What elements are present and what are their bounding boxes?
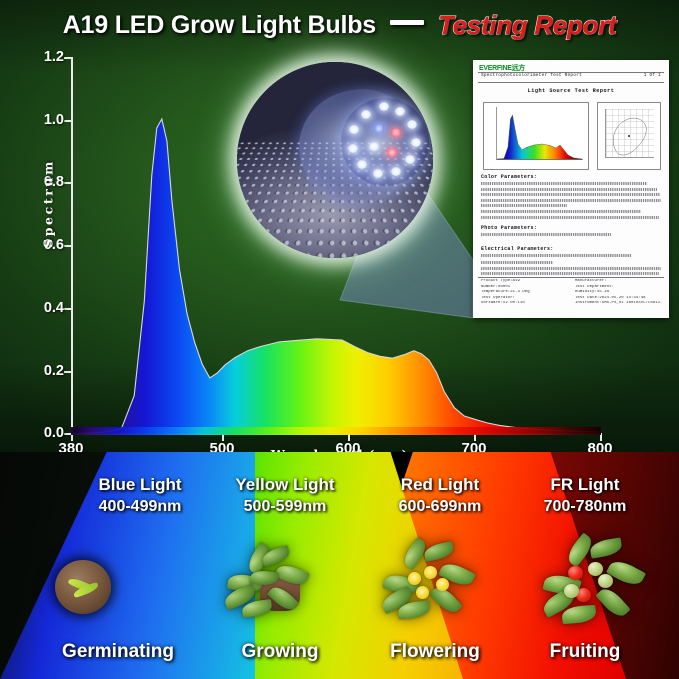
report-footer-cell: Test Department: — [575, 285, 661, 289]
led-bulb-photo — [237, 62, 433, 258]
led-ring — [341, 98, 429, 186]
led-dot-red — [391, 128, 401, 137]
report-footer-cell: Manufacturer: — [575, 279, 661, 283]
led-dot — [349, 125, 359, 134]
infographic-root: A19 LED Grow Light Bulbs Testing Report … — [0, 0, 679, 679]
report-cie-diagram — [597, 102, 661, 170]
leafy-plant-icon — [222, 545, 314, 627]
band-name: Blue Light — [98, 475, 181, 494]
flower-icon — [424, 566, 437, 579]
fruiting-tomato-icon — [542, 540, 646, 632]
report-footer-cell: Test Operator: — [481, 296, 567, 300]
report-footer-cell: Test Date:2024-05-20 14:34:48 — [575, 296, 661, 300]
led-dot — [395, 107, 405, 116]
led-dot — [348, 144, 358, 153]
report-footer-cell: Temperature:21.3 Deg — [481, 290, 567, 294]
spectrum-color-strip — [71, 427, 601, 435]
tomato-green-icon — [598, 574, 613, 588]
report-spectrum-plot — [483, 102, 589, 170]
seedling-icon — [55, 560, 111, 614]
report-footer-cell: Humidity:45.1% — [575, 290, 661, 294]
flower-icon — [416, 586, 429, 599]
report-section-heading: Photo Parameters: — [481, 225, 537, 231]
led-dot — [369, 142, 379, 151]
band-name: FR Light — [551, 475, 620, 494]
report-header-left: Spectrophotocolorimeter Test Report — [481, 73, 582, 78]
led-dot — [405, 155, 415, 164]
test-report-card: EVERFINE远方 Spectrophotocolorimeter Test … — [473, 60, 669, 318]
flower-icon — [436, 578, 449, 591]
flowering-plant-icon — [380, 542, 476, 628]
led-dot — [391, 167, 401, 176]
report-section-heading: Color Parameters: — [481, 174, 537, 180]
led-dot — [379, 102, 389, 111]
flower-icon — [408, 572, 421, 585]
led-dot-blue — [374, 124, 384, 133]
tomato-red-icon — [568, 566, 583, 580]
report-title: Light Source Test Report — [473, 88, 669, 94]
report-page-indicator: 1 Of 1 — [644, 73, 661, 78]
report-footer-table: Product Type:A19 Manufacturer: Number:00… — [481, 279, 661, 305]
band-name: Yellow Light — [235, 475, 334, 494]
led-dot-red — [387, 148, 397, 157]
report-footer-cell: Software:V2.00.110 — [481, 301, 567, 305]
tomato-green-icon — [564, 584, 579, 598]
light-bands-section: Blue Light 400-499nm Yellow Light 500-59… — [0, 452, 679, 679]
band-label-fr: FR Light 700-780nm — [480, 474, 679, 518]
led-dot — [361, 110, 371, 119]
stage-label-germinating: Germinating — [28, 641, 208, 663]
tomato-green-icon — [588, 562, 603, 576]
led-dot — [411, 138, 421, 147]
report-header-row: Spectrophotocolorimeter Test Report 1 Of… — [481, 73, 661, 78]
led-dot — [407, 120, 417, 129]
stage-label-fruiting: Fruiting — [495, 641, 675, 663]
report-footer-cell: Number:00001 — [481, 285, 567, 289]
led-dot — [357, 160, 367, 169]
report-footer-cell: Instrument:SMS-PS_01 180103VC/C091111111 — [575, 301, 661, 305]
stage-label-growing: Growing — [190, 641, 370, 663]
report-section-heading: Electrical Parameters: — [481, 246, 554, 252]
band-range: 700-780nm — [480, 496, 679, 517]
led-dot — [373, 169, 383, 178]
report-footer-cell: Product Type:A19 — [481, 279, 567, 283]
band-name: Red Light — [401, 475, 479, 494]
